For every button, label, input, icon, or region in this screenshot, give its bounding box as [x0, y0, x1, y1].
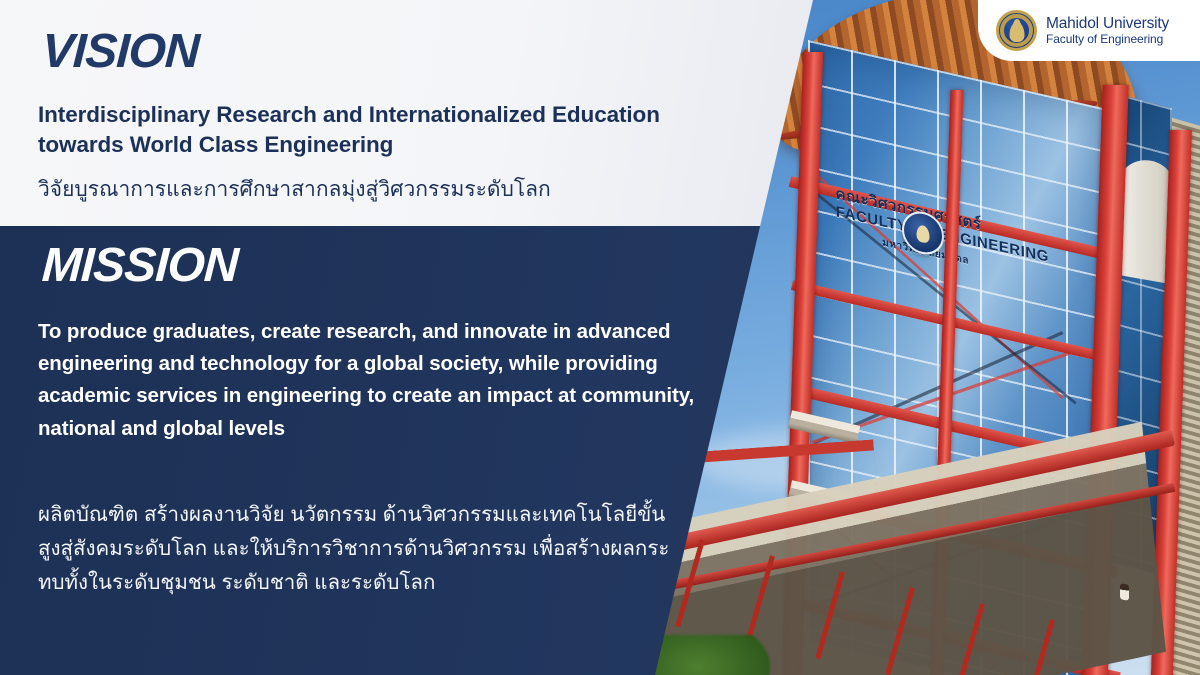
- foliage: [650, 635, 770, 675]
- mission-statement-thai: ผลิตบัณฑิต สร้างผลงานวิจัย นวัตกรรม ด้าน…: [38, 498, 678, 600]
- vision-statement-thai: วิจัยบูรณาการและการศึกษาสากลมุ่งสู่วิศวก…: [38, 176, 698, 203]
- vision-statement-english: Interdisciplinary Research and Internati…: [38, 100, 698, 160]
- organization-name: Mahidol University: [1046, 15, 1169, 33]
- brand-text: Mahidol University Faculty of Engineerin…: [1046, 15, 1169, 47]
- mahidol-seal-icon: [996, 10, 1037, 51]
- person-on-balcony: [1120, 583, 1129, 600]
- brand-logo-badge: Mahidol University Faculty of Engineerin…: [978, 0, 1200, 61]
- vision-mission-slide: คณะวิศวกรรมศาสตร์ FACULTY OF ENGINEERING…: [0, 0, 1200, 675]
- mission-statement-english: To produce graduates, create research, a…: [38, 316, 703, 445]
- vision-heading: VISION: [41, 28, 200, 76]
- seal-ring: [1000, 14, 1033, 47]
- mission-heading: MISSION: [41, 242, 239, 290]
- faculty-name: Faculty of Engineering: [1046, 33, 1169, 47]
